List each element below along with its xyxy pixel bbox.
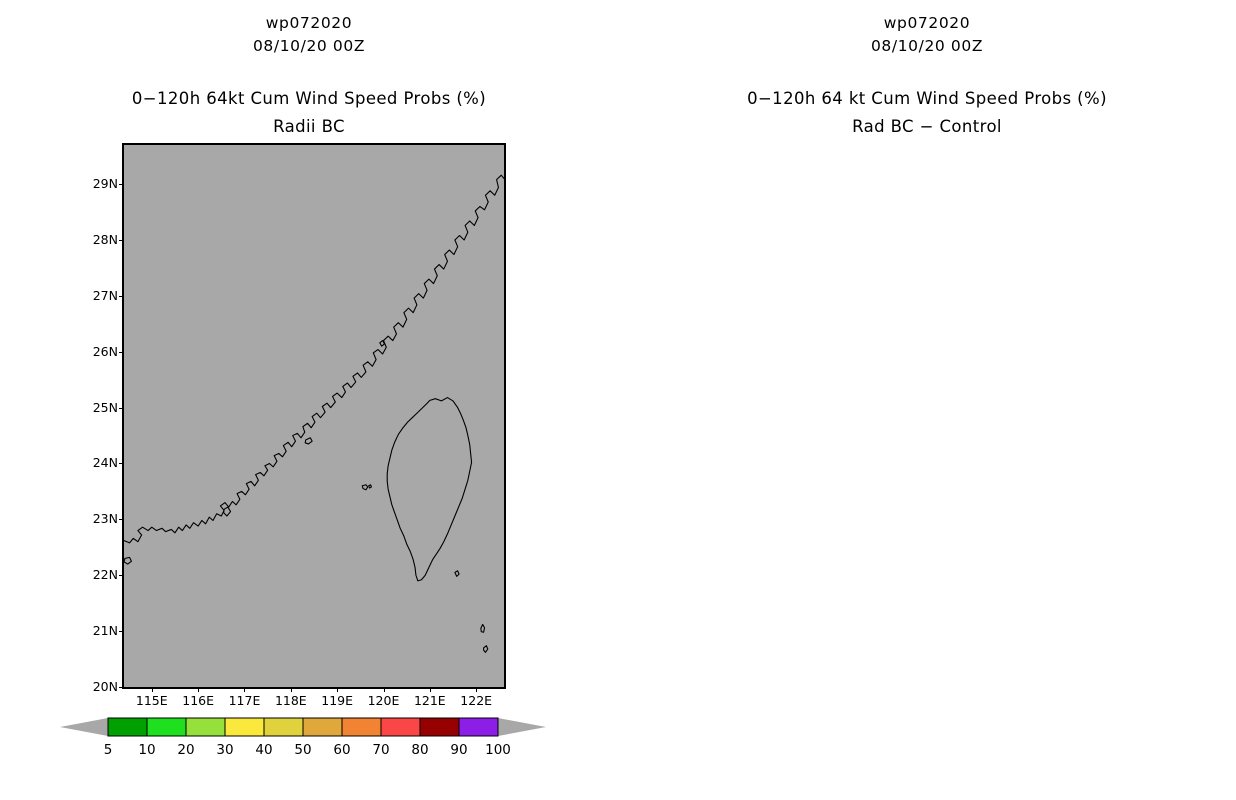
colorbar-tick-label: 100	[470, 742, 526, 758]
xtick-mark	[198, 687, 199, 692]
panel-right-datetime: 08/10/20 00Z	[618, 37, 1236, 55]
ytick-label: 27N	[76, 288, 118, 303]
panel-radii-bc: wp072020 08/10/20 00Z 0−120h 64kt Cum Wi…	[0, 0, 618, 800]
panel-left-title-sub: Radii BC	[0, 117, 618, 136]
xtick-label: 118E	[266, 693, 316, 708]
ytick-mark	[119, 184, 124, 185]
ytick-label: 25N	[76, 400, 118, 415]
ytick-mark	[119, 519, 124, 520]
xtick-mark	[384, 687, 385, 692]
xtick-label: 116E	[173, 693, 223, 708]
panel-left-storm-id: wp072020	[0, 14, 618, 32]
xtick-label: 121E	[405, 693, 455, 708]
panel-left-datetime: 08/10/20 00Z	[0, 37, 618, 55]
ytick-mark	[119, 296, 124, 297]
ytick-label: 28N	[76, 232, 118, 247]
ytick-mark	[119, 631, 124, 632]
ytick-label: 21N	[76, 623, 118, 638]
xtick-mark	[476, 687, 477, 692]
xtick-mark	[291, 687, 292, 692]
ytick-label: 23N	[76, 511, 118, 526]
ytick-label: 20N	[76, 679, 118, 694]
ytick-label: 24N	[76, 455, 118, 470]
map-coastlines-left	[124, 145, 504, 687]
xtick-mark	[430, 687, 431, 692]
xtick-label: 117E	[219, 693, 269, 708]
probability-colorbar-swatches	[0, 712, 618, 744]
xtick-label: 115E	[127, 693, 177, 708]
ytick-mark	[119, 463, 124, 464]
xtick-mark	[337, 687, 338, 692]
ytick-mark	[119, 687, 124, 688]
panel-right-title-main: 0−120h 64 kt Cum Wind Speed Probs (%)	[618, 89, 1236, 108]
ytick-label: 22N	[76, 567, 118, 582]
ytick-mark	[119, 575, 124, 576]
ytick-mark	[119, 240, 124, 241]
ytick-mark	[119, 352, 124, 353]
xtick-label: 120E	[359, 693, 409, 708]
probability-colorbar[interactable]: 5102030405060708090100	[0, 712, 618, 772]
ytick-label: 29N	[76, 176, 118, 191]
xtick-label: 122E	[451, 693, 501, 708]
map-plot-radii-bc[interactable]	[122, 143, 506, 689]
panel-right-title-sub: Rad BC − Control	[618, 117, 1236, 136]
panel-right-storm-id: wp072020	[618, 14, 1236, 32]
panel-rad-bc-control: wp072020 08/10/20 00Z 0−120h 64 kt Cum W…	[618, 0, 1236, 800]
ytick-mark	[119, 408, 124, 409]
xtick-label: 119E	[312, 693, 362, 708]
xtick-mark	[244, 687, 245, 692]
ytick-label: 26N	[76, 344, 118, 359]
panel-left-title-main: 0−120h 64kt Cum Wind Speed Probs (%)	[0, 89, 618, 108]
xtick-mark	[152, 687, 153, 692]
